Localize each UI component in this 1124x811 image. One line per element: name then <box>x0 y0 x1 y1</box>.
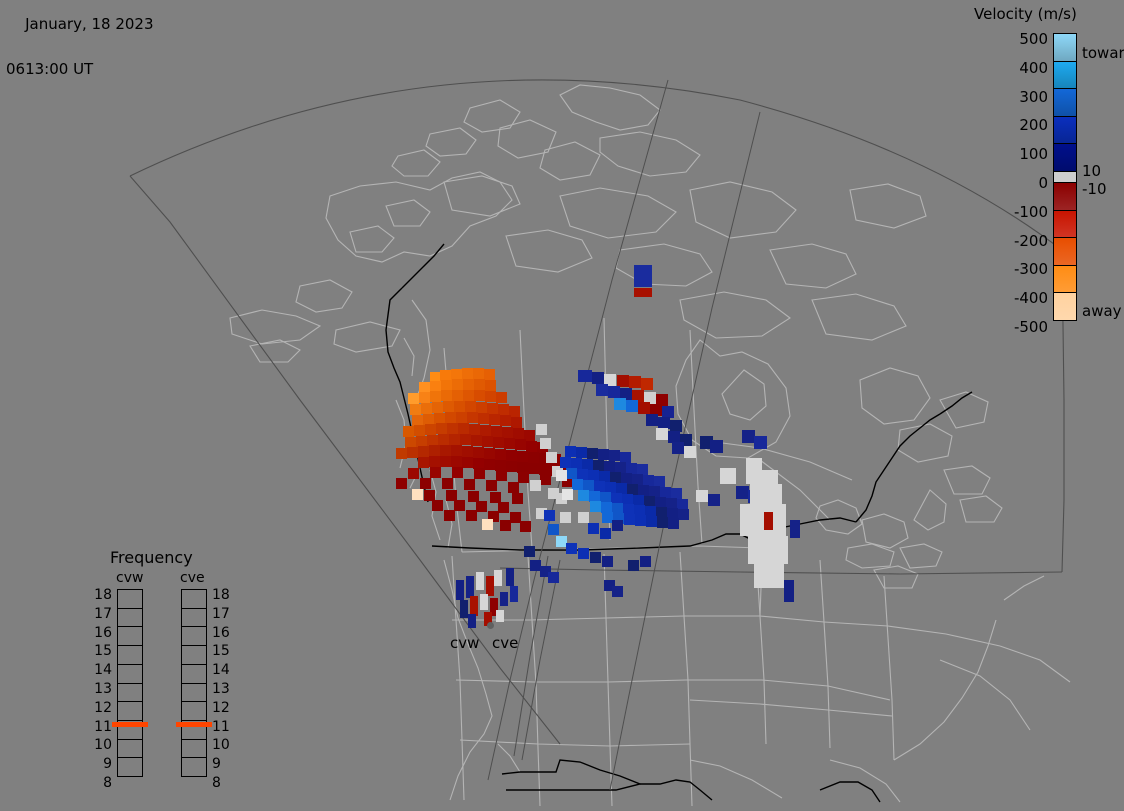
velocity-cell <box>486 576 494 596</box>
velocity-cell <box>524 546 535 557</box>
velocity-cell <box>520 521 531 532</box>
velocity-tick-400: 400 <box>962 61 1048 76</box>
velocity-cell <box>577 469 588 480</box>
colorbar-band-9 <box>1054 266 1076 294</box>
velocity-cell <box>635 515 646 526</box>
velocity-cell <box>454 401 465 412</box>
velocity-cell <box>512 493 523 504</box>
velocity-cell <box>432 500 443 511</box>
velocity-cell <box>462 446 473 457</box>
velocity-cell <box>460 434 471 445</box>
velocity-cell <box>403 426 414 437</box>
velocity-cell <box>460 600 468 618</box>
frequency-segment <box>118 665 142 684</box>
velocity-cell <box>609 450 620 461</box>
velocity-cell <box>462 457 473 468</box>
frequency-panel-title: Frequency <box>110 548 193 567</box>
velocity-cell <box>440 370 451 381</box>
velocity-cell <box>638 485 649 496</box>
velocity-cell <box>578 370 592 382</box>
velocity-cell <box>616 483 627 494</box>
frequency-tick-9: 9 <box>88 757 112 771</box>
velocity-cell <box>508 482 519 493</box>
frequency-tick-10: 10 <box>212 738 236 752</box>
velocity-cell <box>670 420 682 432</box>
velocity-cell <box>637 464 648 475</box>
frequency-tick-13: 13 <box>88 682 112 696</box>
velocity-cell <box>451 445 462 456</box>
velocity-cell <box>790 520 800 538</box>
velocity-cell <box>548 572 559 583</box>
velocity-cell <box>633 495 644 506</box>
velocity-cell <box>528 452 539 463</box>
velocity-cell <box>484 369 495 380</box>
velocity-cell <box>408 393 419 404</box>
frequency-segment <box>118 609 142 628</box>
velocity-cell <box>454 500 465 511</box>
velocity-cell <box>441 390 452 401</box>
velocity-cell <box>495 460 506 471</box>
velocity-cell <box>517 462 528 473</box>
velocity-cell <box>468 614 476 628</box>
velocity-cell <box>484 448 495 459</box>
velocity-cell <box>610 472 621 483</box>
radar-fov-boundary <box>130 80 1064 744</box>
velocity-tick--500: -500 <box>962 320 1048 335</box>
velocity-cell <box>486 480 497 491</box>
velocity-cell <box>430 467 441 478</box>
colorbar-band-8 <box>1054 238 1076 266</box>
velocity-cell <box>517 451 528 462</box>
velocity-cell <box>473 458 484 469</box>
frequency-segment <box>182 609 206 628</box>
velocity-cell <box>432 402 443 413</box>
frequency-bar-cve <box>181 589 207 777</box>
velocity-cell <box>678 509 689 520</box>
velocity-cell <box>754 564 784 588</box>
velocity-cell <box>476 501 487 512</box>
radar-station-marker <box>487 622 494 629</box>
velocity-cell <box>468 491 479 502</box>
velocity-cell <box>442 478 453 489</box>
velocity-cell <box>510 586 518 602</box>
velocity-cell <box>496 470 507 481</box>
velocity-cell <box>588 523 599 534</box>
velocity-inner-low-label: -10 <box>1082 182 1107 197</box>
velocity-cell <box>480 594 488 610</box>
velocity-cell <box>748 536 788 564</box>
velocity-cell <box>657 517 668 528</box>
velocity-cell <box>672 442 684 454</box>
velocity-cell <box>617 375 629 387</box>
velocity-cell <box>646 516 657 527</box>
velocity-cell <box>526 441 537 452</box>
velocity-cell <box>465 401 476 412</box>
velocity-cell <box>416 436 427 447</box>
velocity-cell <box>440 445 451 456</box>
velocity-cell <box>622 494 633 505</box>
velocity-cell <box>668 518 679 529</box>
colorbar-band-3 <box>1054 117 1076 145</box>
velocity-data-cells <box>396 265 800 628</box>
velocity-cell <box>412 415 423 426</box>
velocity-cell <box>513 428 524 439</box>
velocity-cell <box>506 450 517 461</box>
velocity-cell <box>480 425 491 436</box>
velocity-cell <box>754 436 767 449</box>
frequency-marker-cvw <box>112 722 148 727</box>
velocity-cell <box>556 470 567 481</box>
velocity-cell <box>742 430 755 443</box>
velocity-cell <box>626 400 638 412</box>
velocity-cell <box>562 489 573 500</box>
velocity-cell <box>590 501 601 512</box>
velocity-tick-500: 500 <box>962 32 1048 47</box>
velocity-cell <box>560 512 571 523</box>
velocity-cell <box>487 403 498 414</box>
velocity-cell <box>405 437 416 448</box>
velocity-cell <box>502 427 513 438</box>
velocity-cell <box>645 506 656 517</box>
velocity-cell <box>656 507 667 518</box>
velocity-cell <box>784 580 794 602</box>
velocity-cell <box>449 434 460 445</box>
velocity-tick-300: 300 <box>962 90 1048 105</box>
velocity-cell <box>612 503 623 514</box>
frequency-tick-9: 9 <box>212 757 236 771</box>
velocity-cell <box>427 435 438 446</box>
velocity-cell <box>418 446 429 457</box>
velocity-cell <box>473 368 484 379</box>
velocity-cell <box>593 460 604 471</box>
velocity-cell <box>467 412 478 423</box>
velocity-cell <box>498 404 509 415</box>
velocity-cell <box>464 479 475 490</box>
velocity-cell <box>605 482 616 493</box>
velocity-tick-200: 200 <box>962 118 1048 133</box>
frequency-tick-16: 16 <box>88 626 112 640</box>
colorbar-band-2 <box>1054 89 1076 117</box>
velocity-cell <box>536 424 547 435</box>
velocity-tick--400: -400 <box>962 291 1048 306</box>
velocity-cell <box>634 265 652 287</box>
velocity-cell <box>671 488 682 499</box>
velocity-cell <box>624 514 635 525</box>
frequency-segment <box>118 590 142 609</box>
velocity-cell <box>482 436 493 447</box>
velocity-cell <box>720 468 736 484</box>
velocity-cell <box>592 372 604 384</box>
velocity-cell <box>452 379 463 390</box>
frequency-segment <box>182 740 206 759</box>
velocity-cell <box>736 486 749 499</box>
velocity-cell <box>490 492 501 503</box>
frequency-segment <box>182 627 206 646</box>
velocity-cell <box>441 380 452 391</box>
velocity-cell <box>420 478 431 489</box>
velocity-cell <box>515 439 526 450</box>
velocity-cell <box>451 456 462 467</box>
velocity-cell <box>590 552 601 563</box>
velocity-cell <box>598 449 609 460</box>
frequency-segment <box>118 627 142 646</box>
velocity-cell <box>578 490 589 501</box>
velocity-cell <box>466 510 477 521</box>
velocity-cell <box>506 568 514 586</box>
velocity-colorbar-ticks: 5004003002001000-100-200-300-400-500 <box>962 26 1048 326</box>
colorbar-band-1 <box>1054 62 1076 90</box>
frequency-tick-15: 15 <box>88 644 112 658</box>
velocity-cell <box>587 448 598 459</box>
velocity-cell <box>539 464 550 475</box>
frequency-tick-10: 10 <box>88 738 112 752</box>
velocity-cell <box>540 474 551 485</box>
velocity-cell <box>696 490 708 502</box>
velocity-cell <box>484 459 495 470</box>
velocity-cell <box>476 402 487 413</box>
velocity-cell <box>612 586 623 597</box>
velocity-cell <box>474 468 485 479</box>
colorbar-band-4 <box>1054 144 1076 172</box>
velocity-cell <box>546 452 557 463</box>
velocity-cell <box>629 376 641 388</box>
velocity-cell <box>498 502 509 513</box>
velocity-cell <box>576 447 587 458</box>
velocity-cell <box>476 572 484 590</box>
velocity-cell <box>677 499 688 510</box>
velocity-cell <box>445 412 456 423</box>
velocity-cell <box>604 461 615 472</box>
velocity-cell <box>620 452 631 463</box>
velocity-cell <box>493 437 504 448</box>
velocity-cell <box>485 380 496 391</box>
velocity-cell <box>504 438 515 449</box>
frequency-tick-14: 14 <box>212 663 236 677</box>
velocity-cell <box>594 481 605 492</box>
velocity-cell <box>640 556 651 567</box>
colorbar-band-0 <box>1054 34 1076 62</box>
frequency-column-label-cvw: cvw <box>116 570 143 586</box>
velocity-cell <box>456 580 464 600</box>
velocity-cell <box>572 479 583 490</box>
velocity-cell <box>458 423 469 434</box>
velocity-cell <box>600 492 611 503</box>
frequency-segment <box>182 702 206 721</box>
frequency-bar-cvw <box>117 589 143 777</box>
velocity-cell <box>496 392 507 403</box>
velocity-cell <box>496 610 504 622</box>
frequency-segment <box>118 646 142 665</box>
velocity-cell <box>589 491 600 502</box>
velocity-tick--100: -100 <box>962 205 1048 220</box>
colorbar-band-10 <box>1054 293 1076 320</box>
frequency-tick-8: 8 <box>212 776 236 790</box>
velocity-cell <box>615 462 626 473</box>
velocity-cell <box>634 505 645 516</box>
radar-map-figure: January, 18 2023 0613:00 UT <box>0 0 1124 811</box>
velocity-cell <box>443 401 454 412</box>
velocity-cell <box>500 520 511 531</box>
frequency-tick-14: 14 <box>88 663 112 677</box>
velocity-cell <box>474 390 485 401</box>
frequency-tick-8: 8 <box>88 776 112 790</box>
frequency-segment <box>118 758 142 776</box>
velocity-cell <box>436 423 447 434</box>
velocity-tick--300: -300 <box>962 262 1048 277</box>
velocity-cell <box>668 431 680 443</box>
velocity-cell <box>494 570 502 586</box>
velocity-cell <box>632 474 643 485</box>
velocity-cell <box>408 468 419 479</box>
velocity-cell <box>578 548 589 559</box>
velocity-cell <box>582 459 593 470</box>
frequency-tick-18: 18 <box>88 588 112 602</box>
velocity-legend-title: Velocity (m/s) <box>974 5 1077 23</box>
velocity-cell <box>611 493 622 504</box>
site-label-cvw: cvw <box>450 634 479 652</box>
velocity-cell <box>649 486 660 497</box>
velocity-cell <box>588 470 599 481</box>
velocity-cell <box>440 456 451 467</box>
velocity-cell <box>602 556 613 567</box>
velocity-cell <box>566 543 577 554</box>
site-label-cve: cve <box>492 634 518 652</box>
velocity-cell <box>599 471 610 482</box>
velocity-cell <box>438 434 449 445</box>
frequency-tick-16: 16 <box>212 626 236 640</box>
velocity-cell <box>684 446 696 458</box>
frequency-segment <box>182 665 206 684</box>
frequency-tick-18: 18 <box>212 588 236 602</box>
frequency-segment <box>118 702 142 721</box>
velocity-cell <box>396 448 407 459</box>
velocity-tick-0: 0 <box>962 176 1048 191</box>
velocity-cell <box>548 524 559 535</box>
velocity-legend: Velocity (m/s) 5004003002001000-100-200-… <box>962 2 1124 332</box>
velocity-cell <box>510 512 521 523</box>
velocity-cell <box>446 490 457 501</box>
velocity-cell <box>482 519 493 530</box>
frequency-tick-11: 11 <box>88 720 112 734</box>
velocity-cell <box>478 413 489 424</box>
velocity-cell <box>528 463 539 474</box>
velocity-cell <box>463 390 474 401</box>
velocity-toward-label: toward <box>1082 46 1124 61</box>
velocity-cell <box>601 502 612 513</box>
velocity-cell <box>608 386 620 398</box>
velocity-tick--200: -200 <box>962 234 1048 249</box>
velocity-cell <box>469 424 480 435</box>
velocity-cell <box>660 487 671 498</box>
velocity-cell <box>500 415 511 426</box>
velocity-cell <box>444 510 455 521</box>
velocity-cell <box>418 457 429 468</box>
velocity-cell <box>764 512 773 530</box>
velocity-cell <box>463 379 474 390</box>
frequency-tick-12: 12 <box>88 701 112 715</box>
velocity-cell <box>627 484 638 495</box>
frequency-segment <box>182 590 206 609</box>
velocity-cell <box>667 508 678 519</box>
velocity-cell <box>708 494 720 506</box>
velocity-cell <box>612 520 623 531</box>
velocity-cell <box>556 536 567 547</box>
velocity-cell <box>746 458 762 484</box>
velocity-cell <box>419 392 430 403</box>
velocity-colorbar <box>1053 33 1077 321</box>
velocity-cell <box>628 560 639 571</box>
colorbar-band-6 <box>1054 183 1076 211</box>
velocity-cell <box>421 403 432 414</box>
frequency-tick-11: 11 <box>212 720 236 734</box>
velocity-cell <box>634 288 652 297</box>
velocity-cell <box>506 461 517 472</box>
velocity-cell <box>662 406 674 418</box>
velocity-cell <box>710 440 723 453</box>
velocity-cell <box>430 391 441 402</box>
velocity-cell <box>571 458 582 469</box>
frequency-segment <box>182 758 206 776</box>
velocity-cell <box>566 468 577 479</box>
velocity-cell <box>423 414 434 425</box>
velocity-cell <box>466 576 474 598</box>
velocity-cell <box>456 412 467 423</box>
frequency-tick-12: 12 <box>212 701 236 715</box>
frequency-tick-17: 17 <box>88 607 112 621</box>
velocity-cell <box>452 390 463 401</box>
velocity-cell <box>429 456 440 467</box>
velocity-cell <box>656 428 668 440</box>
velocity-cell <box>470 596 478 616</box>
frequency-segment <box>182 684 206 703</box>
frequency-tick-13: 13 <box>212 682 236 696</box>
velocity-cell <box>602 512 613 523</box>
coastlines-layer <box>230 85 1070 806</box>
frequency-tick-15: 15 <box>212 644 236 658</box>
frequency-segment <box>118 740 142 759</box>
frequency-panel: Frequency cvw cve 18171615141312111098 1… <box>84 548 260 793</box>
velocity-cell <box>583 480 594 491</box>
velocity-cell <box>471 435 482 446</box>
velocity-cell <box>462 368 473 379</box>
velocity-cell <box>565 446 576 457</box>
velocity-cell <box>626 463 637 474</box>
velocity-cell <box>451 369 462 380</box>
velocity-cell <box>447 423 458 434</box>
velocity-cell <box>544 510 555 521</box>
velocity-cell <box>654 476 665 487</box>
velocity-cell <box>407 447 418 458</box>
velocity-cell <box>419 382 430 393</box>
velocity-cell <box>578 512 589 523</box>
velocity-cell <box>658 417 670 429</box>
velocity-cell <box>621 473 632 484</box>
velocity-inner-high-label: 10 <box>1082 164 1101 179</box>
frequency-column-label-cve: cve <box>180 570 205 586</box>
velocity-cell <box>485 391 496 402</box>
velocity-cell <box>474 379 485 390</box>
velocity-cell <box>495 449 506 460</box>
colorbar-band-5 <box>1054 172 1076 183</box>
velocity-tick-100: 100 <box>962 147 1048 162</box>
velocity-cell <box>410 404 421 415</box>
velocity-cell <box>600 528 611 539</box>
velocity-cell <box>596 384 608 396</box>
velocity-cell <box>412 489 423 500</box>
velocity-cell <box>623 504 634 515</box>
velocity-cell <box>500 592 508 606</box>
velocity-cell <box>489 414 500 425</box>
